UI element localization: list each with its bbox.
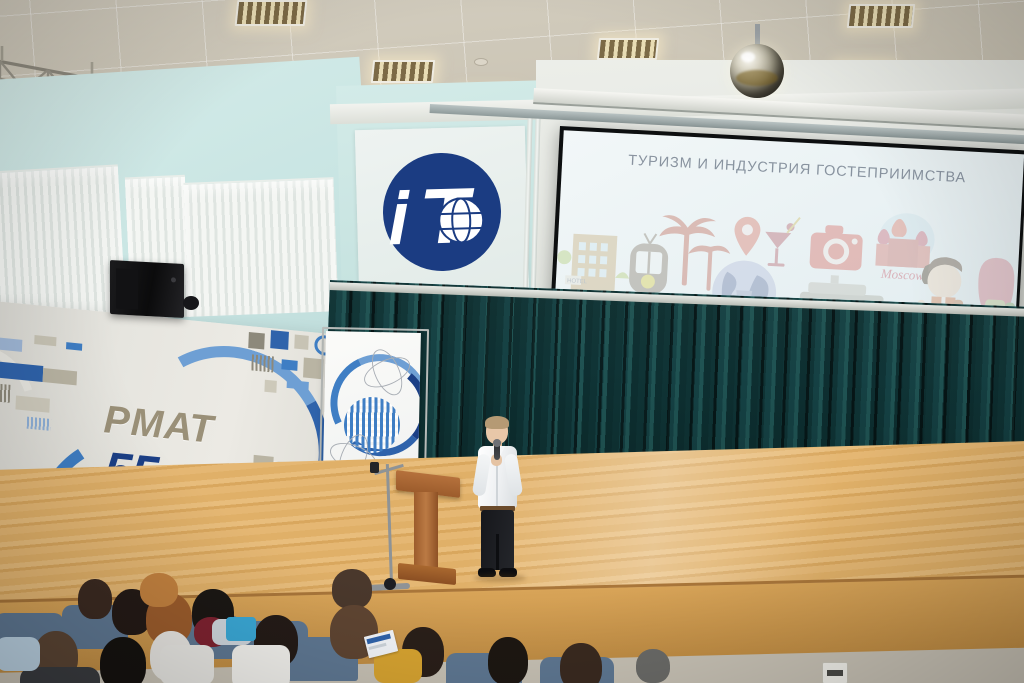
decor-chip	[66, 342, 82, 351]
presenter	[470, 418, 526, 588]
rmat-institutional-logo	[381, 151, 502, 272]
wall-logo-board	[355, 126, 529, 298]
audience-head	[140, 573, 178, 607]
tram-icon	[628, 232, 669, 298]
decor-chip	[43, 368, 77, 385]
audience-area	[0, 575, 700, 683]
hotel-building-icon: HOTEL	[556, 232, 632, 292]
audience-head	[488, 637, 528, 683]
stage-monitor-speaker	[110, 260, 184, 318]
decor-chip	[270, 330, 289, 350]
decor-chip	[294, 334, 309, 349]
svg-text:HOTEL: HOTEL	[567, 278, 588, 285]
cocktail-icon	[764, 215, 800, 267]
decor-chip	[0, 337, 22, 352]
conference-hall-photo: ТУРИЗМ И ИНДУСТРИЯ ГОСТЕПРИИМСТВА HOTEL	[0, 0, 1024, 683]
ceiling-light-fixture	[235, 0, 308, 26]
disco-mirror-ball	[730, 44, 784, 98]
audience-torso	[232, 645, 290, 683]
audience-head	[332, 569, 372, 609]
mic-stand-clip	[370, 462, 379, 473]
decor-chip	[264, 380, 276, 393]
audience-head	[560, 643, 602, 683]
ceiling-light-fixture	[597, 38, 659, 60]
map-pin-icon	[733, 216, 761, 256]
speaker-cable-coil	[183, 296, 199, 310]
camera-icon	[809, 224, 863, 271]
ceiling-light-fixture	[847, 4, 916, 28]
audience-bag	[226, 617, 256, 641]
decor-chip	[248, 332, 265, 350]
audience-torso	[160, 645, 214, 683]
audience-torso	[0, 637, 40, 671]
smoke-detector-icon	[474, 58, 488, 66]
window-blinds	[0, 164, 126, 323]
decor-chip	[281, 359, 297, 371]
power-outlet	[822, 662, 848, 683]
window-blinds	[183, 177, 338, 317]
microphone-head-icon	[493, 439, 501, 447]
audience-head	[100, 637, 146, 683]
audience-head	[78, 579, 112, 619]
podium-column	[414, 492, 438, 568]
decor-chip	[251, 354, 274, 372]
presenter-hair	[485, 416, 509, 429]
presenter-trouser-gap	[496, 534, 499, 570]
audience-head	[636, 649, 670, 683]
slide-title: ТУРИЗМ И ИНДУСТРИЯ ГОСТЕПРИИМСТВА	[585, 151, 1009, 189]
it-emblem-icon	[381, 151, 502, 272]
decor-chip	[34, 335, 56, 346]
svg-text:Moscow: Moscow	[880, 265, 925, 282]
